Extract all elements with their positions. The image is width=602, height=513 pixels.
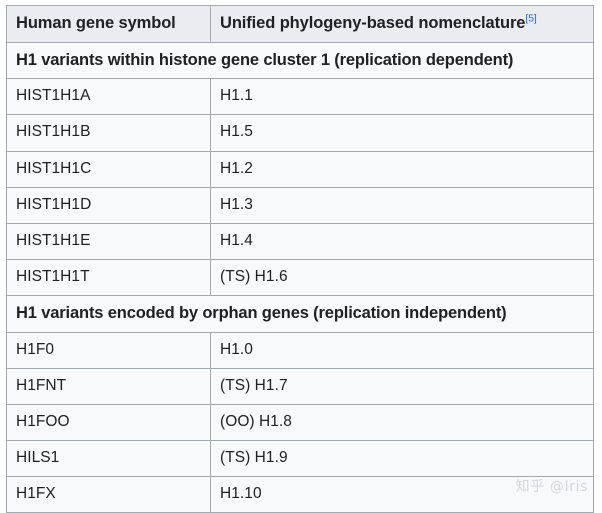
cell-nomenclature: H1.1: [211, 79, 594, 115]
cell-nomenclature: H1.0: [211, 332, 594, 368]
cell-gene-symbol: H1FX: [7, 477, 211, 513]
cell-gene-symbol: H1FOO: [7, 405, 211, 441]
table-row: HIST1H1E H1.4: [7, 223, 594, 259]
table-row: H1FNT (TS) H1.7: [7, 368, 594, 404]
cell-nomenclature: H1.3: [211, 187, 594, 223]
table-row: HIST1H1D H1.3: [7, 187, 594, 223]
table-row: H1FOO (OO) H1.8: [7, 405, 594, 441]
column-header-unified-nomenclature: Unified phylogeny-based nomenclature[5]: [211, 6, 594, 43]
cell-nomenclature: H1.4: [211, 223, 594, 259]
section-heading-replication-independent: H1 variants encoded by orphan genes (rep…: [7, 296, 594, 333]
cell-gene-symbol: HIST1H1B: [7, 115, 211, 151]
table-header-row: Human gene symbol Unified phylogeny-base…: [7, 6, 594, 43]
cell-gene-symbol: HIST1H1E: [7, 223, 211, 259]
table-row: HIST1H1A H1.1: [7, 79, 594, 115]
cell-gene-symbol: HIST1H1A: [7, 79, 211, 115]
table-row: H1F0 H1.0: [7, 332, 594, 368]
cell-gene-symbol: HILS1: [7, 441, 211, 477]
cell-gene-symbol: HIST1H1D: [7, 187, 211, 223]
cell-nomenclature: (OO) H1.8: [211, 405, 594, 441]
cell-nomenclature: (TS) H1.9: [211, 441, 594, 477]
table-row: HIST1H1B H1.5: [7, 115, 594, 151]
cell-nomenclature: H1.5: [211, 115, 594, 151]
table-header: Human gene symbol Unified phylogeny-base…: [7, 6, 594, 43]
cell-nomenclature: (TS) H1.6: [211, 259, 594, 295]
nomenclature-table-container: Human gene symbol Unified phylogeny-base…: [6, 5, 594, 513]
cell-nomenclature: (TS) H1.7: [211, 368, 594, 404]
reference-link-5[interactable]: [5]: [525, 13, 536, 25]
column-header-human-gene-symbol: Human gene symbol: [7, 6, 211, 43]
table-row: HIST1H1T (TS) H1.6: [7, 259, 594, 295]
cell-gene-symbol: HIST1H1T: [7, 259, 211, 295]
cell-gene-symbol: H1F0: [7, 332, 211, 368]
cell-nomenclature: H1.2: [211, 151, 594, 187]
column-header-label: Unified phylogeny-based nomenclature: [220, 14, 525, 32]
watermark-zhihu-iris: 知乎 @Iris: [516, 476, 588, 496]
histone-h1-nomenclature-table: Human gene symbol Unified phylogeny-base…: [6, 5, 594, 513]
cell-gene-symbol: HIST1H1C: [7, 151, 211, 187]
section-heading-replication-dependent: H1 variants within histone gene cluster …: [7, 42, 594, 79]
table-row: H1FX H1.10: [7, 477, 594, 513]
table-row: HILS1 (TS) H1.9: [7, 441, 594, 477]
table-body: H1 variants within histone gene cluster …: [7, 42, 594, 513]
cell-gene-symbol: H1FNT: [7, 368, 211, 404]
table-row: HIST1H1C H1.2: [7, 151, 594, 187]
section-header-row: H1 variants encoded by orphan genes (rep…: [7, 296, 594, 333]
section-header-row: H1 variants within histone gene cluster …: [7, 42, 594, 79]
column-header-label: Human gene symbol: [16, 14, 176, 32]
